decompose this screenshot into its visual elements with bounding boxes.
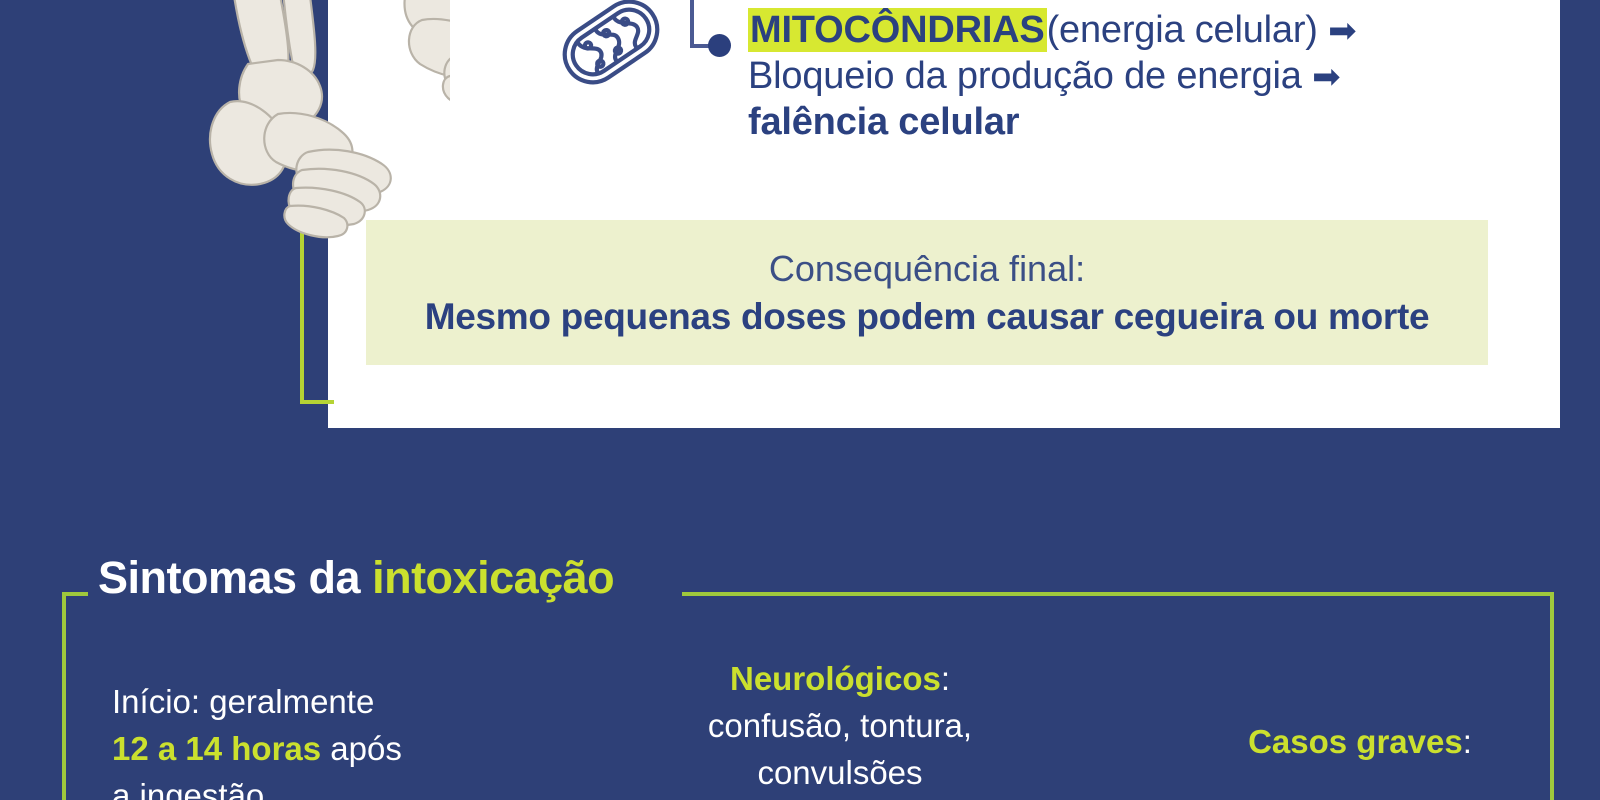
mitochondria-line-1: MITOCÔNDRIAS(energia celular) ➡ <box>748 8 1468 54</box>
symptoms-heading-accent: intoxicação <box>372 552 614 603</box>
symptom-column-onset: Início: geralmente 12 a 14 horas após a … <box>112 678 512 800</box>
symptom-column-neurological: Neurológicos: confusão, tontura, convuls… <box>640 655 1040 796</box>
onset-line-2: 12 a 14 horas após <box>112 725 512 772</box>
symptoms-heading: Sintomas da intoxicação <box>98 552 614 604</box>
consequence-text: Mesmo pequenas doses podem causar ceguei… <box>425 295 1430 339</box>
arrow-right-icon-2: ➡ <box>1312 58 1340 96</box>
neurological-label: Neurológicos <box>730 660 941 697</box>
neurological-line-1: confusão, tontura, <box>640 702 1040 749</box>
consequence-label: Consequência final: <box>769 247 1085 291</box>
mitochondria-term: MITOCÔNDRIAS <box>748 8 1047 52</box>
severe-label-row: Casos graves: <box>1160 718 1560 765</box>
neurological-label-row: Neurológicos: <box>640 655 1040 702</box>
infographic-canvas: MITOCÔNDRIAS(energia celular) ➡ Bloqueio… <box>0 0 1600 800</box>
mitochondria-line-3: falência celular <box>748 100 1468 145</box>
onset-line-1: Início: geralmente <box>112 678 512 725</box>
connector-dot <box>708 34 731 57</box>
onset-line-2-tail: após <box>321 730 402 767</box>
consequence-box: Consequência final: Mesmo pequenas doses… <box>366 220 1488 365</box>
severe-colon: : <box>1463 723 1472 760</box>
symptom-column-severe: Casos graves: <box>1160 718 1560 765</box>
mitochondria-icon <box>543 0 679 102</box>
onset-line-3: a ingestão <box>112 772 512 800</box>
mitochondria-parenthetical: (energia celular) <box>1047 9 1318 51</box>
skeleton-legs-illustration <box>150 0 450 240</box>
onset-duration: 12 a 14 horas <box>112 730 321 767</box>
neurological-colon: : <box>941 660 950 697</box>
mitochondria-line-2: Bloqueio da produção de energia ➡ <box>748 54 1468 100</box>
mitochondria-text-block: MITOCÔNDRIAS(energia celular) ➡ Bloqueio… <box>748 8 1468 145</box>
severe-label: Casos graves <box>1248 723 1463 760</box>
symptoms-heading-plain: Sintomas da <box>98 552 372 603</box>
neurological-line-2: convulsões <box>640 749 1040 796</box>
arrow-right-icon: ➡ <box>1328 12 1356 50</box>
mitochondria-line-2-text: Bloqueio da produção de energia <box>748 55 1302 97</box>
